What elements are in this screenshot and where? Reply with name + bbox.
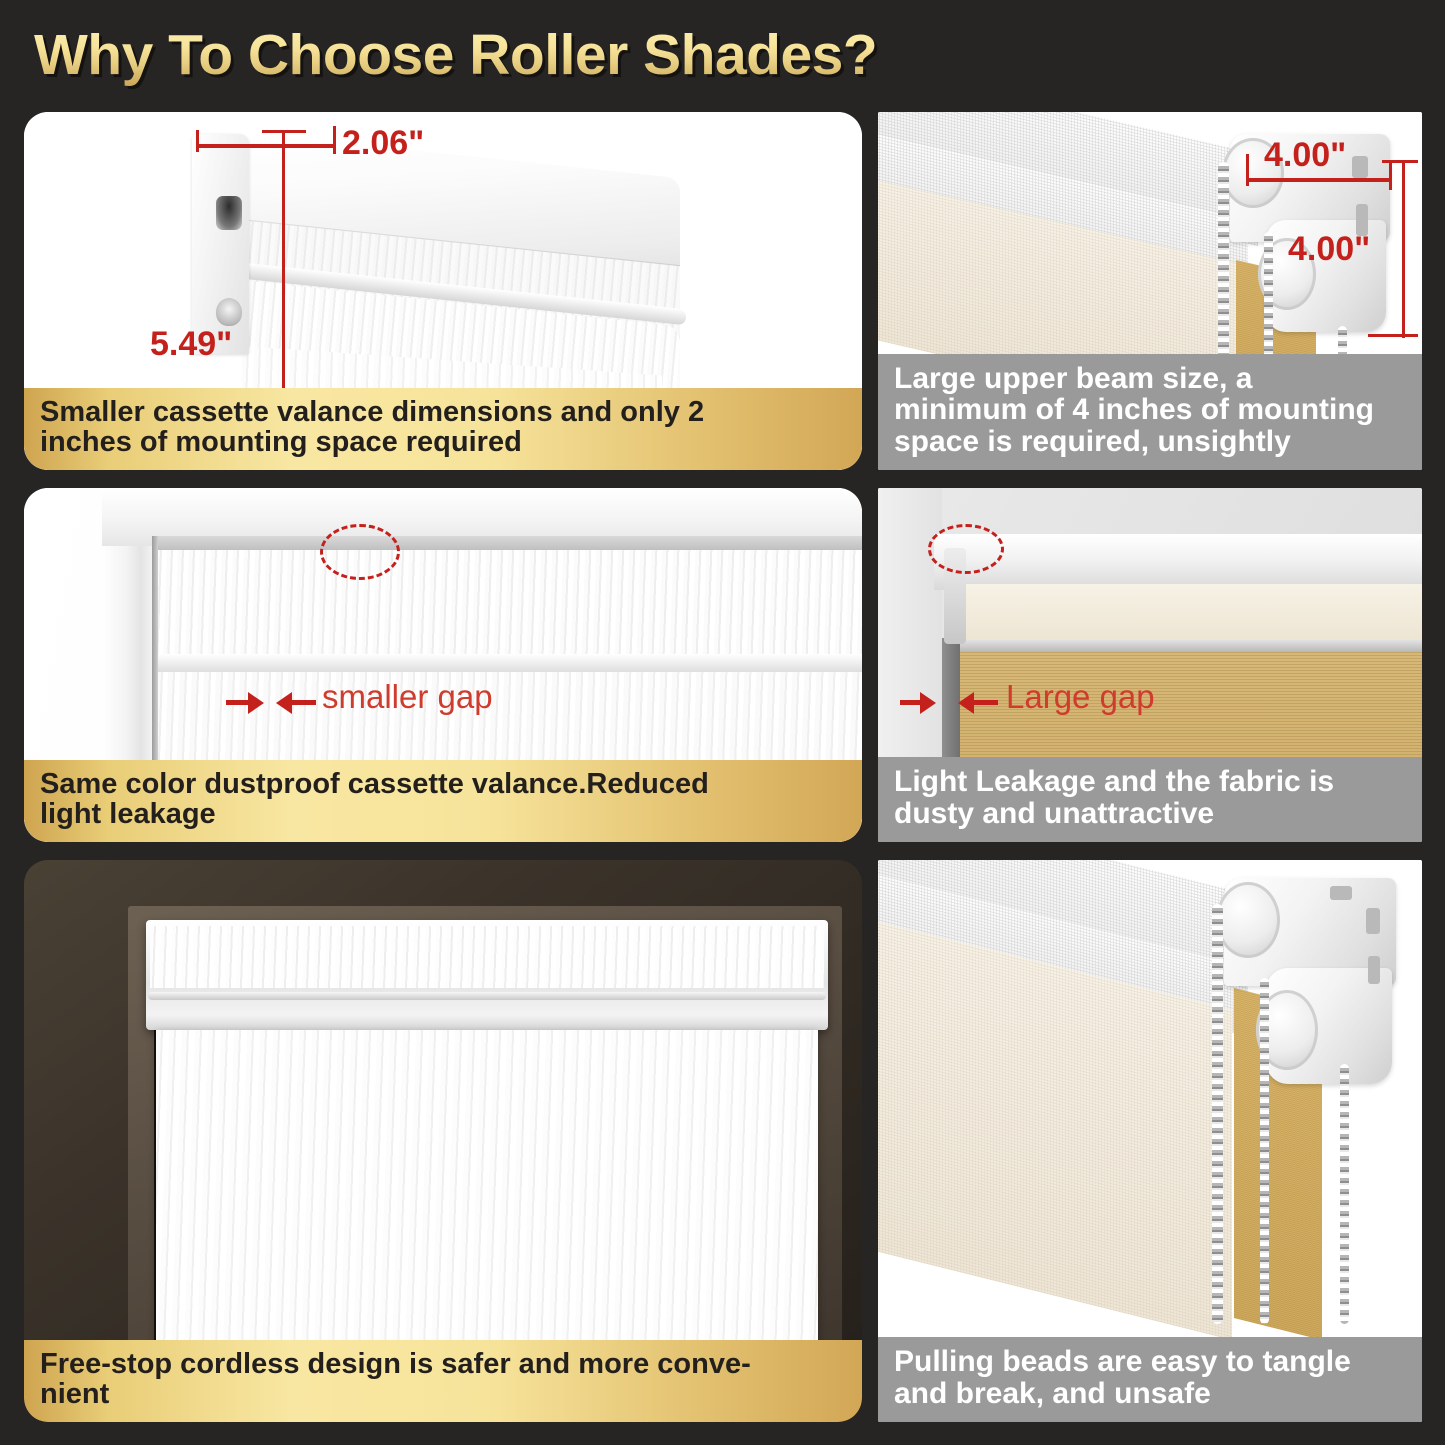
shade-fabric-upper bbox=[156, 550, 862, 660]
panel-6-caption: Pulling beads are easy to tangle and bre… bbox=[878, 1337, 1422, 1422]
beam-height-label: 4.00" bbox=[1288, 230, 1370, 269]
width-dim-tick-left bbox=[196, 130, 199, 152]
panel-6-caption-line-2: and break, and unsafe bbox=[894, 1378, 1406, 1410]
shade-middle-rail bbox=[152, 654, 862, 672]
beam-width-tick-left bbox=[1246, 154, 1249, 186]
infographic-page: Why To Choose Roller Shades? Why To Choo… bbox=[0, 0, 1445, 1445]
beam-height-tick-bottom bbox=[1368, 334, 1418, 337]
gap-highlight-circle bbox=[928, 524, 1004, 574]
panel-4-caption-line-1: Light Leakage and the fabric is bbox=[894, 766, 1406, 798]
panel-large-upper-beam: 4.00" 4.00" Large upper beam size, a min… bbox=[878, 112, 1422, 470]
gap-arrow-right-shaft bbox=[292, 700, 316, 705]
gap-arrow-right-shaft bbox=[974, 700, 998, 705]
panel-1-caption-line-1: Smaller cassette valance dimensions and … bbox=[40, 397, 846, 428]
panel-2-caption-line-2: minimum of 4 inches of mounting bbox=[894, 394, 1406, 426]
bracket-mount-tab-3 bbox=[1368, 956, 1380, 984]
panel-5-caption: Free-stop cordless design is safer and m… bbox=[24, 1340, 862, 1422]
panel-3-caption-line-1: Same color dustproof cassette valance.Re… bbox=[40, 769, 846, 800]
smaller-gap-label: smaller gap bbox=[322, 678, 493, 716]
bead-chain-rear bbox=[1340, 1064, 1349, 1324]
page-title: Why To Choose Roller Shades? bbox=[34, 22, 877, 88]
gap-arrow-right-head bbox=[958, 692, 974, 714]
height-dimension-label: 5.49" bbox=[150, 325, 232, 364]
competitor-bottom-bar bbox=[950, 640, 1422, 652]
bracket-screw-icon bbox=[216, 298, 242, 326]
panel-1-caption: Smaller cassette valance dimensions and … bbox=[24, 388, 862, 470]
width-dimension-label: 2.06" bbox=[342, 124, 424, 163]
beam-width-dim-line bbox=[1246, 178, 1392, 182]
panel-cassette-valance-dimensions: 2.06" 5.49" Smaller cassette valance dim… bbox=[24, 112, 862, 470]
panel-2-caption: Large upper beam size, a minimum of 4 in… bbox=[878, 354, 1422, 470]
panel-2-caption-line-3: space is required, unsightly bbox=[894, 426, 1406, 458]
width-dim-tick-right bbox=[333, 126, 336, 154]
bead-chain-front bbox=[1212, 904, 1223, 1324]
panel-pulling-beads: Pulling beads are easy to tangle and bre… bbox=[878, 860, 1422, 1422]
bracket-mount-tab-1 bbox=[1352, 156, 1368, 178]
gap-arrow-left-head bbox=[248, 692, 264, 714]
panel-4-caption: Light Leakage and the fabric is dusty an… bbox=[878, 757, 1422, 842]
panel-4-caption-line-2: dusty and unattractive bbox=[894, 798, 1406, 830]
panel-5-photo bbox=[24, 860, 862, 1422]
valance-lip bbox=[148, 992, 826, 1000]
panel-3-caption: Same color dustproof cassette valance.Re… bbox=[24, 760, 862, 842]
panel-2-caption-line-1: Large upper beam size, a bbox=[894, 363, 1406, 395]
large-gap-label: Large gap bbox=[1006, 678, 1155, 716]
panel-3-caption-line-2: light leakage bbox=[40, 799, 846, 830]
bead-chain-mid bbox=[1260, 978, 1269, 1324]
gap-arrow-left-head bbox=[920, 692, 936, 714]
height-dim-line bbox=[282, 130, 285, 430]
competitor-valance bbox=[950, 584, 1422, 646]
beam-width-tick-right bbox=[1389, 162, 1392, 190]
beam-width-label: 4.00" bbox=[1264, 136, 1346, 175]
roller-shade-fabric bbox=[156, 1030, 818, 1375]
panel-5-caption-line-1: Free-stop cordless design is safer and m… bbox=[40, 1349, 846, 1380]
panel-light-leakage: Large gap Light Leakage and the fabric i… bbox=[878, 488, 1422, 842]
panel-1-caption-line-2: inches of mounting space required bbox=[40, 427, 846, 458]
beam-height-tick-top bbox=[1382, 160, 1418, 163]
competitor-upper-beam bbox=[934, 534, 1422, 590]
beam-height-dim-line bbox=[1402, 160, 1405, 338]
panel-5-caption-line-2: nient bbox=[40, 1379, 846, 1410]
bracket-slot-icon bbox=[216, 196, 242, 230]
roller-end-disc-upper bbox=[1216, 882, 1280, 958]
gap-arrow-left-shaft bbox=[900, 700, 922, 705]
gap-arrow-right-head bbox=[276, 692, 292, 714]
valance-texture bbox=[150, 926, 824, 988]
panel-dustproof-cassette-valance: smaller gap Same color dustproof cassett… bbox=[24, 488, 862, 842]
gap-highlight-circle bbox=[320, 524, 400, 580]
bracket-mount-tab-1 bbox=[1330, 886, 1352, 900]
gap-arrow-left-shaft bbox=[226, 700, 250, 705]
panel-6-caption-line-1: Pulling beads are easy to tangle bbox=[894, 1346, 1406, 1378]
height-dim-tick-top bbox=[262, 130, 306, 133]
panel-free-stop-cordless: Free-stop cordless design is safer and m… bbox=[24, 860, 862, 1422]
bracket-mount-tab-2 bbox=[1366, 908, 1380, 934]
width-dim-line bbox=[196, 144, 336, 148]
